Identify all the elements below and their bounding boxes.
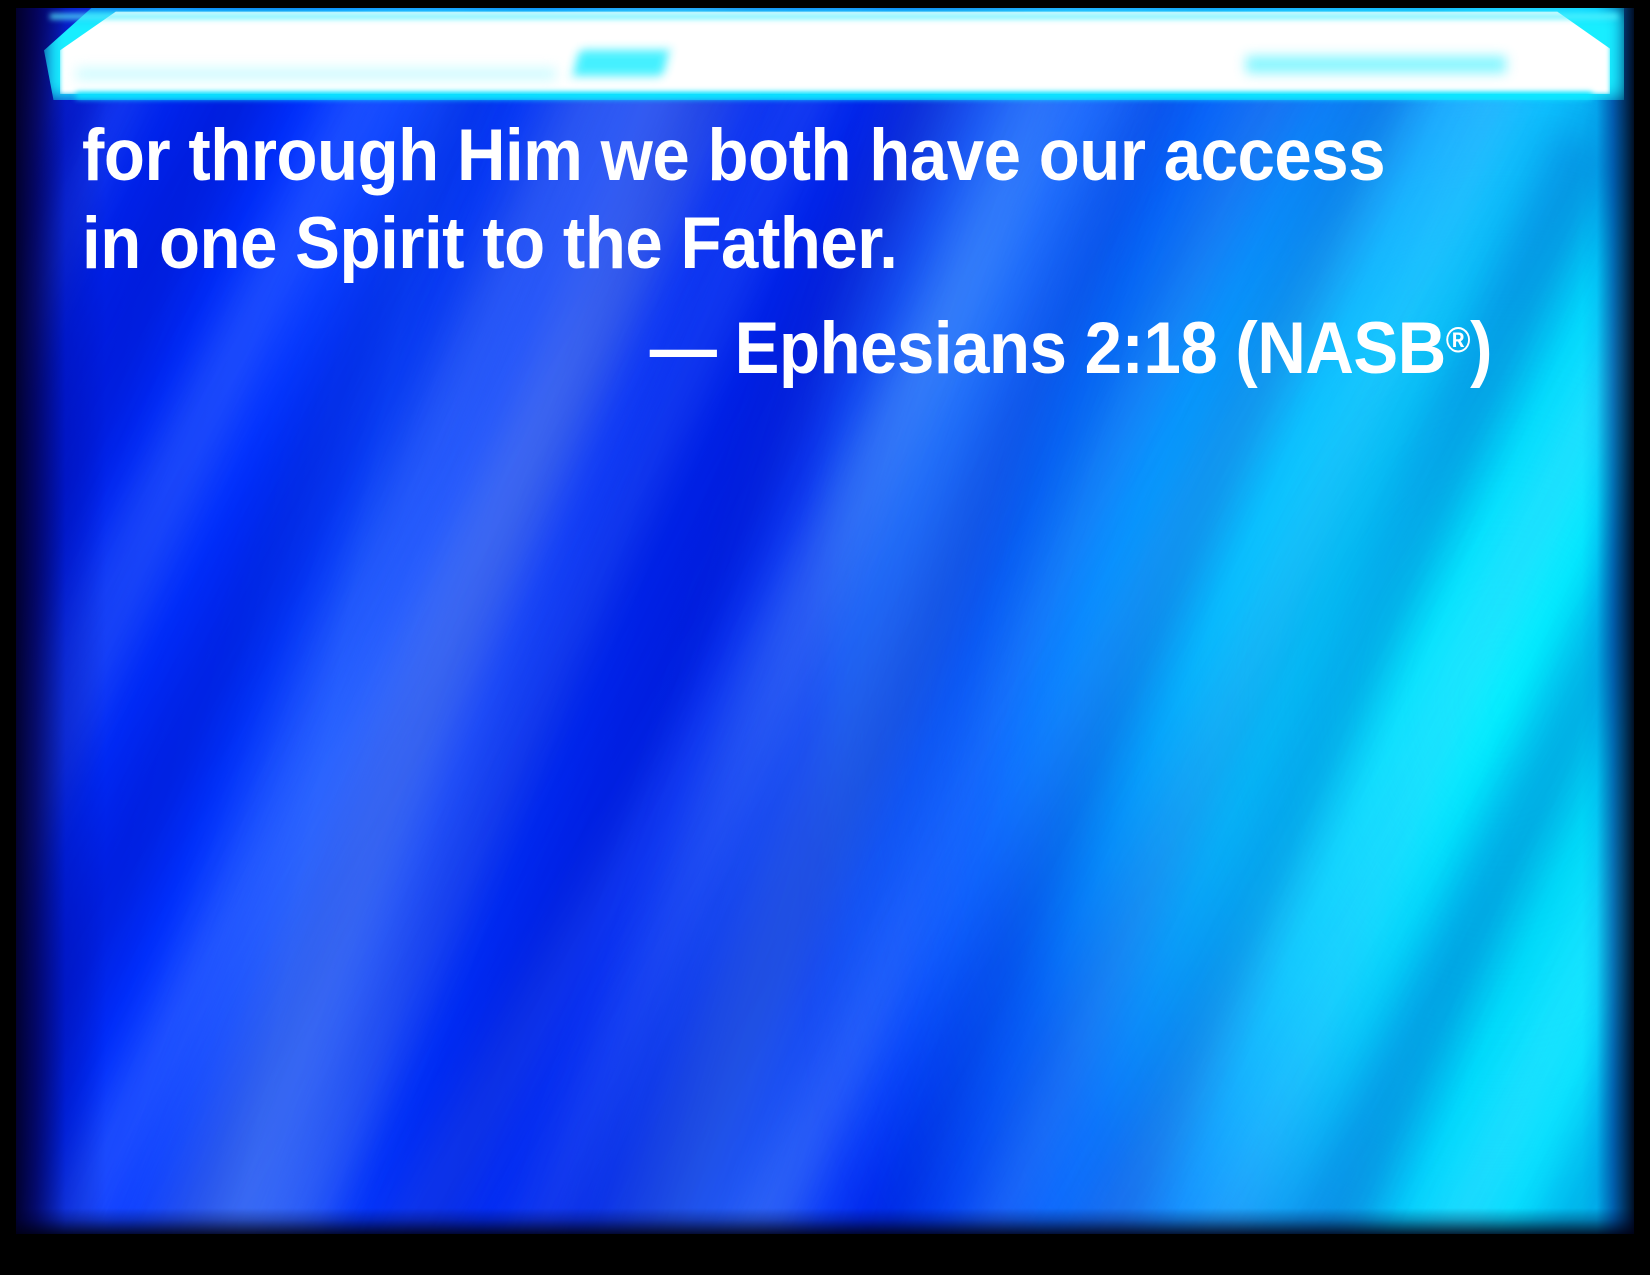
header-glow-band (16, 6, 1634, 110)
attribution-suffix: ) (1470, 308, 1492, 389)
bottom-edge-shadow (16, 1208, 1634, 1234)
right-edge-shadow (1582, 8, 1634, 1234)
attribution-prefix: — Ephesians 2:18 (NASB (650, 308, 1446, 389)
header-bottom-edge-line (76, 92, 1592, 99)
verse-text-block: for through Him we both have our access … (82, 112, 1492, 393)
header-white-bar (60, 10, 1610, 94)
verse-line-1: for through Him we both have our access (82, 112, 1379, 200)
verse-line-2: in one Spirit to the Father. (82, 200, 1379, 288)
header-wisp-right (1246, 56, 1506, 73)
scripture-slide: for through Him we both have our access … (0, 0, 1650, 1275)
header-wisp-center (573, 50, 669, 76)
verse-attribution: — Ephesians 2:18 (NASB®) (195, 296, 1492, 393)
registered-trademark-icon: ® (1446, 319, 1470, 360)
header-wisp-left (76, 68, 556, 80)
header-top-edge-line (50, 14, 1618, 19)
